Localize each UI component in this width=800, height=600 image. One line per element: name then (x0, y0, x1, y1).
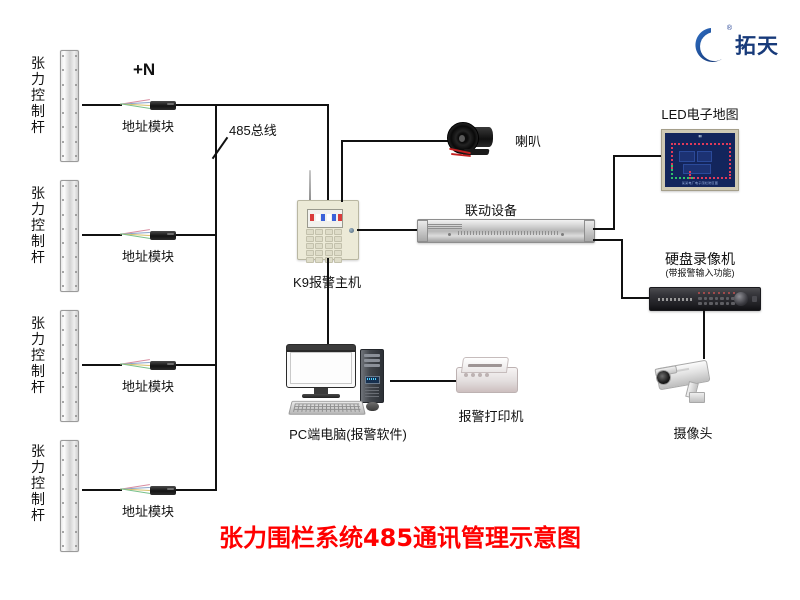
wire-module-2-to-bus (176, 234, 216, 236)
wire-pole-4-to-module (82, 489, 122, 491)
wire-linkage-to-ledmap-h1 (593, 228, 615, 230)
wire-host-to-linkage (357, 229, 417, 231)
wire-module-1-to-bus (176, 104, 216, 106)
pc-workstation[interactable] (286, 344, 390, 416)
printer-label: 报警打印机 (458, 406, 523, 425)
wire-linkage-to-dvr-v (621, 239, 623, 299)
wire-host-to-horn-h (341, 140, 449, 142)
address-module-3 (120, 357, 176, 373)
wire-pole-1-to-module (82, 104, 122, 106)
pc-mouse[interactable] (366, 402, 379, 411)
host-indicator-icon (349, 228, 354, 233)
module-label-4: 地址模块 (122, 501, 174, 520)
wire-pole-3-to-module (82, 364, 122, 366)
pc-monitor-foot (302, 394, 340, 398)
pc-label: PC端电脑(报警软件) (289, 424, 407, 443)
registered-mark: ® (727, 25, 732, 32)
address-module-2 (120, 227, 176, 243)
wire-module-3-to-bus (176, 364, 216, 366)
led-map-caption: 某某电厂电子围栏防区图 (665, 181, 735, 185)
tension-control-pole-4 (60, 440, 79, 552)
siren-horn (447, 120, 503, 160)
pole-label-2: 张力控制杆 (30, 185, 46, 265)
wire-module-4-to-bus (176, 489, 216, 491)
wire-dvr-to-camera (703, 309, 705, 359)
address-module-1 (120, 97, 176, 113)
wire-pc-to-printer (390, 380, 458, 382)
diagram-title: 张力围栏系统485通讯管理示意图 (219, 518, 581, 553)
led-map-screen: ▮▮ 某某电厂电子围栏防区图 (665, 133, 735, 187)
bus-485-trunk (215, 104, 217, 491)
wire-linkage-to-ledmap-v (613, 155, 615, 230)
tension-control-pole-2 (60, 180, 79, 292)
led-electronic-map: ▮▮ 某某电厂电子围栏防区图 (661, 129, 739, 191)
pole-label-3: 张力控制杆 (30, 315, 46, 395)
tension-control-pole-1 (60, 50, 79, 162)
pole-label-1: 张力控制杆 (30, 55, 46, 135)
bus-485-to-host (215, 104, 329, 106)
cctv-camera (655, 358, 729, 410)
pc-keyboard[interactable] (288, 401, 366, 415)
tension-control-pole-3 (60, 310, 79, 422)
camera-label: 摄像头 (673, 423, 712, 442)
wire-linkage-to-dvr-h2 (621, 297, 651, 299)
pole-label-4: 张力控制杆 (30, 443, 46, 523)
linkage-equipment (417, 219, 595, 243)
bus-485-host-drop (327, 104, 329, 200)
dvr-recorder (649, 287, 761, 311)
bus-485-label: 485总线 (229, 120, 277, 139)
brand-name: 拓天 (735, 30, 779, 60)
host-keypad[interactable] (306, 229, 342, 263)
pc-tower (360, 349, 384, 403)
module-label-1: 地址模块 (122, 116, 174, 135)
bus-expand-label: +N (133, 60, 155, 80)
wire-linkage-to-dvr-h1 (593, 239, 623, 241)
address-module-4 (120, 482, 176, 498)
diagram-canvas: ® 拓天 张力控制杆 地址模块 +N 张力控制杆 地址模块 张力控制杆 (0, 0, 800, 600)
dvr-sublabel: (带报警输入功能) (666, 266, 735, 279)
module-label-3: 地址模块 (122, 376, 174, 395)
pc-monitor (286, 344, 356, 388)
alarm-printer (456, 355, 516, 393)
host-display (307, 209, 343, 228)
linkage-label: 联动设备 (465, 200, 517, 219)
module-label-2: 地址模块 (122, 246, 174, 265)
wire-host-to-horn-v (341, 140, 343, 202)
brand-logo: ® 拓天 (692, 26, 779, 64)
wire-pole-2-to-module (82, 234, 122, 236)
wire-linkage-to-ledmap-h2 (613, 155, 663, 157)
host-antenna-icon (309, 170, 311, 202)
led-map-label: LED电子地图 (661, 104, 738, 123)
horn-label: 喇叭 (515, 131, 541, 150)
k9-alarm-host[interactable] (297, 200, 359, 260)
wire-host-to-pc (327, 258, 329, 344)
tuotian-swirl-logo-icon: ® (692, 26, 730, 64)
